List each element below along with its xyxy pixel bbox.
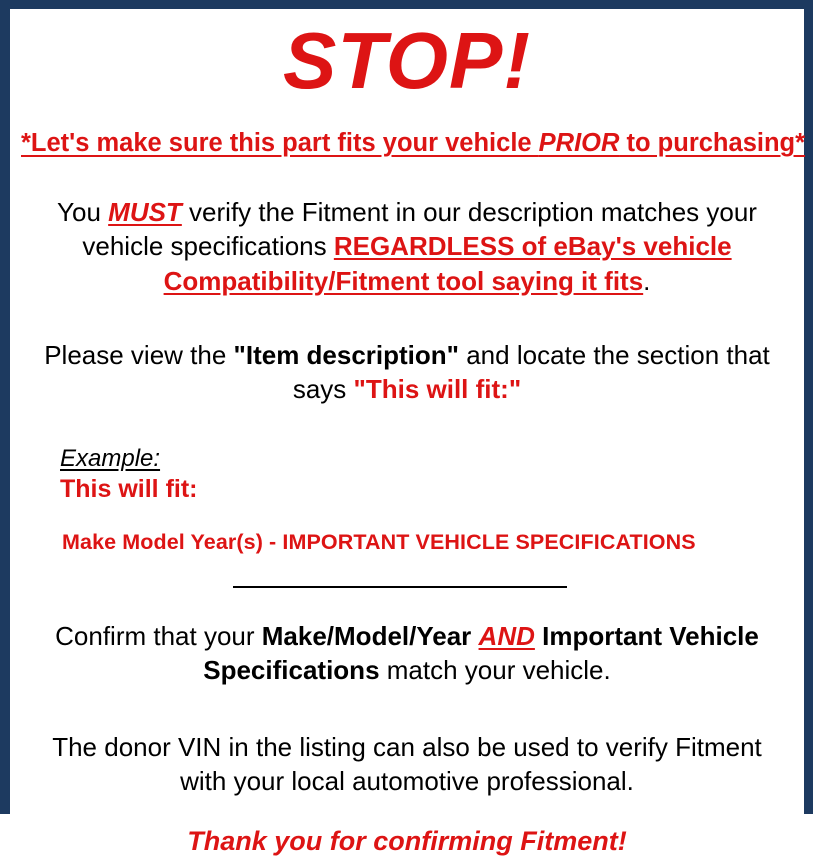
stop-title: STOP! [21,21,793,101]
fitment-notice-card: STOP! *Let's make sure this part fits yo… [0,0,813,814]
confirm-space-1 [471,621,478,651]
confirm-text-1: Confirm that your [55,621,262,651]
paragraph-confirm-match: Confirm that your Make/Model/Year AND Im… [21,619,793,688]
paragraph-donor-vin: The donor VIN in the listing can also be… [21,730,793,799]
view-emphasis-item-description: "Item description" [234,340,459,370]
subtitle-text-before: *Let's make sure this part fits your veh… [21,129,539,157]
view-text-1: Please view the [44,340,233,370]
verify-text-3: . [643,266,650,296]
paragraph-verify-fitment: You MUST verify the Fitment in our descr… [21,195,793,298]
subtitle-text-after: to purchasing* [619,129,805,157]
paragraph-view-description: Please view the "Item description" and l… [21,338,793,407]
thanks-message: Thank you for confirming Fitment! [21,825,793,857]
notice-subtitle: *Let's make sure this part fits your veh… [21,129,793,157]
confirm-emphasis-make-model-year: Make/Model/Year [262,621,472,651]
confirm-emphasis-and: AND [479,621,535,651]
view-emphasis-this-will-fit: "This will fit:" [354,374,522,404]
verify-text-1: You [57,197,108,227]
example-label: Example: [60,445,793,473]
notice-inner: STOP! *Let's make sure this part fits yo… [10,21,804,816]
confirm-text-2: match your vehicle. [380,655,611,685]
subtitle-emphasis-prior: PRIOR [539,129,620,157]
section-divider [233,586,567,588]
example-spec-line: Make Model Year(s) - IMPORTANT VEHICLE S… [62,530,793,556]
section-divider-wrapper [21,582,793,592]
example-block: Example: This will fit: Make Model Year(… [21,445,793,556]
example-fit-heading: This will fit: [60,474,793,504]
verify-emphasis-must: MUST [108,197,182,227]
